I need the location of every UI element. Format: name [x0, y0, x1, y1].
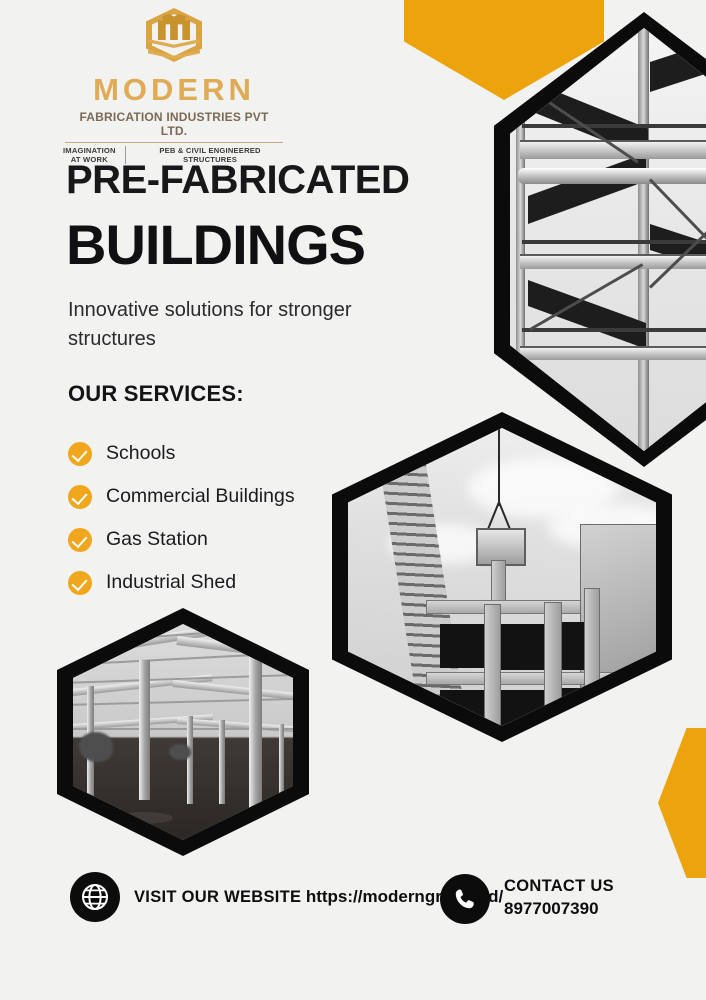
list-item: Industrial Shed: [68, 561, 408, 604]
photo-inner-clip: [510, 28, 706, 451]
phone-icon: [440, 874, 490, 924]
subheadline: Innovative solutions for stronger struct…: [68, 296, 418, 354]
modern-hexagon-chevron-mark-icon: [138, 8, 210, 70]
service-label: Commercial Buildings: [106, 485, 295, 508]
website-contact-block[interactable]: VISIT OUR WEBSITE https://moderngroup.lt…: [70, 872, 503, 922]
logo-tagline-left-line1: IMAGINATION: [63, 146, 116, 155]
headline-line-1: PRE-FABRICATED: [66, 158, 409, 203]
logo-wordmark: MODERN: [63, 74, 285, 105]
shed-illustration: [73, 624, 293, 840]
photo-inner-clip: [73, 624, 293, 840]
list-item: Commercial Buildings: [68, 475, 408, 518]
contact-title: CONTACT US: [504, 877, 614, 895]
contact-phone-number[interactable]: 8977007390: [504, 899, 599, 918]
logo-divider: [65, 142, 283, 143]
service-label: Schools: [106, 442, 175, 465]
logo-company-subtitle: FABRICATION INDUSTRIES PVT LTD.: [66, 110, 281, 138]
headline-line-2: BUILDINGS: [66, 212, 365, 277]
poster-canvas: MODERN FABRICATION INDUSTRIES PVT LTD. I…: [0, 0, 706, 1000]
services-heading: OUR SERVICES:: [68, 381, 244, 407]
check-circle-icon: [68, 528, 92, 552]
phone-contact-block[interactable]: CONTACT US 8977007390: [440, 874, 706, 924]
logo-building-glyph: [158, 14, 190, 40]
globe-icon: [70, 872, 120, 922]
service-label: Industrial Shed: [106, 571, 236, 594]
check-circle-icon: [68, 442, 92, 466]
check-circle-icon: [68, 485, 92, 509]
website-title: VISIT OUR WEBSITE: [134, 888, 301, 906]
list-item: Schools: [68, 432, 408, 475]
service-label: Gas Station: [106, 528, 208, 551]
orange-hexagon-bottom-decoration: [658, 728, 706, 878]
steel-frame-shed-photo: [57, 608, 309, 856]
phone-text-block: CONTACT US 8977007390: [504, 877, 706, 922]
stairs-illustration: [510, 28, 706, 451]
list-item: Gas Station: [68, 518, 408, 561]
check-circle-icon: [68, 571, 92, 595]
company-logo: MODERN FABRICATION INDUSTRIES PVT LTD. I…: [63, 8, 285, 165]
services-list: Schools Commercial Buildings Gas Station…: [68, 432, 408, 604]
